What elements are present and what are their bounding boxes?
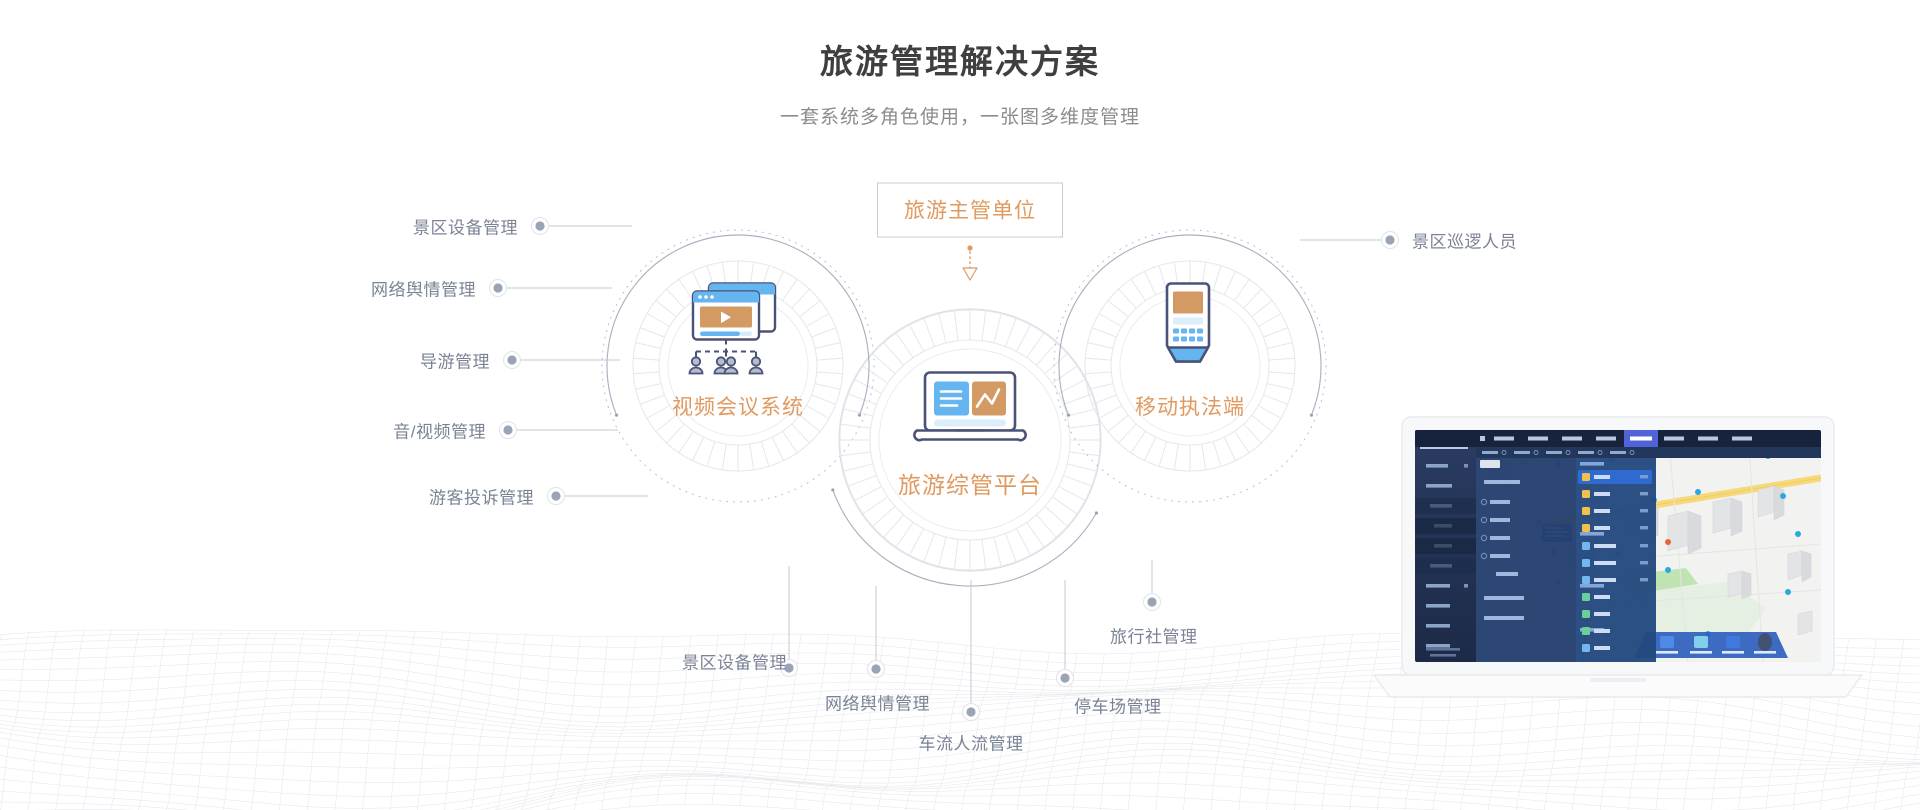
bottom-label-3[interactable]: 停车场管理 [1074, 693, 1162, 718]
video-conference-icon [679, 278, 791, 383]
gov-dotted-arrow [963, 245, 977, 280]
bottom-label-0[interactable]: 景区设备管理 [682, 649, 787, 674]
left-label-3[interactable]: 音/视频管理 [393, 418, 486, 443]
left-label-0[interactable]: 景区设备管理 [413, 214, 518, 239]
page-root: 旅游管理解决方案 一套系统多角色使用，一张图多维度管理 [0, 0, 1920, 810]
node-title-video[interactable]: 视频会议系统 [672, 391, 804, 421]
laptop-dashboard-icon [909, 369, 1031, 456]
right-label-0[interactable]: 景区巡逻人员 [1412, 228, 1517, 253]
bottom-label-4[interactable]: 旅行社管理 [1110, 623, 1198, 648]
bottom-label-1[interactable]: 网络舆情管理 [825, 690, 930, 715]
mobile-enforcement-icon [1157, 282, 1219, 379]
bottom-label-2[interactable]: 车流人流管理 [919, 730, 1024, 755]
left-label-4[interactable]: 游客投诉管理 [429, 484, 534, 509]
dashboard-screen [1415, 430, 1821, 664]
left-label-1[interactable]: 网络舆情管理 [371, 276, 476, 301]
product-screenshot-laptop [1368, 404, 1868, 734]
page-title: 旅游管理解决方案 [0, 42, 1920, 82]
node-title-mobile[interactable]: 移动执法端 [1135, 391, 1245, 421]
node-title-platform[interactable]: 旅游综管平台 [898, 466, 1042, 500]
page-header: 旅游管理解决方案 一套系统多角色使用，一张图多维度管理 [0, 0, 1920, 129]
page-subtitle: 一套系统多角色使用，一张图多维度管理 [0, 102, 1920, 129]
left-label-2[interactable]: 导游管理 [420, 348, 490, 373]
gov-authority-box[interactable]: 旅游主管单位 [877, 183, 1063, 238]
